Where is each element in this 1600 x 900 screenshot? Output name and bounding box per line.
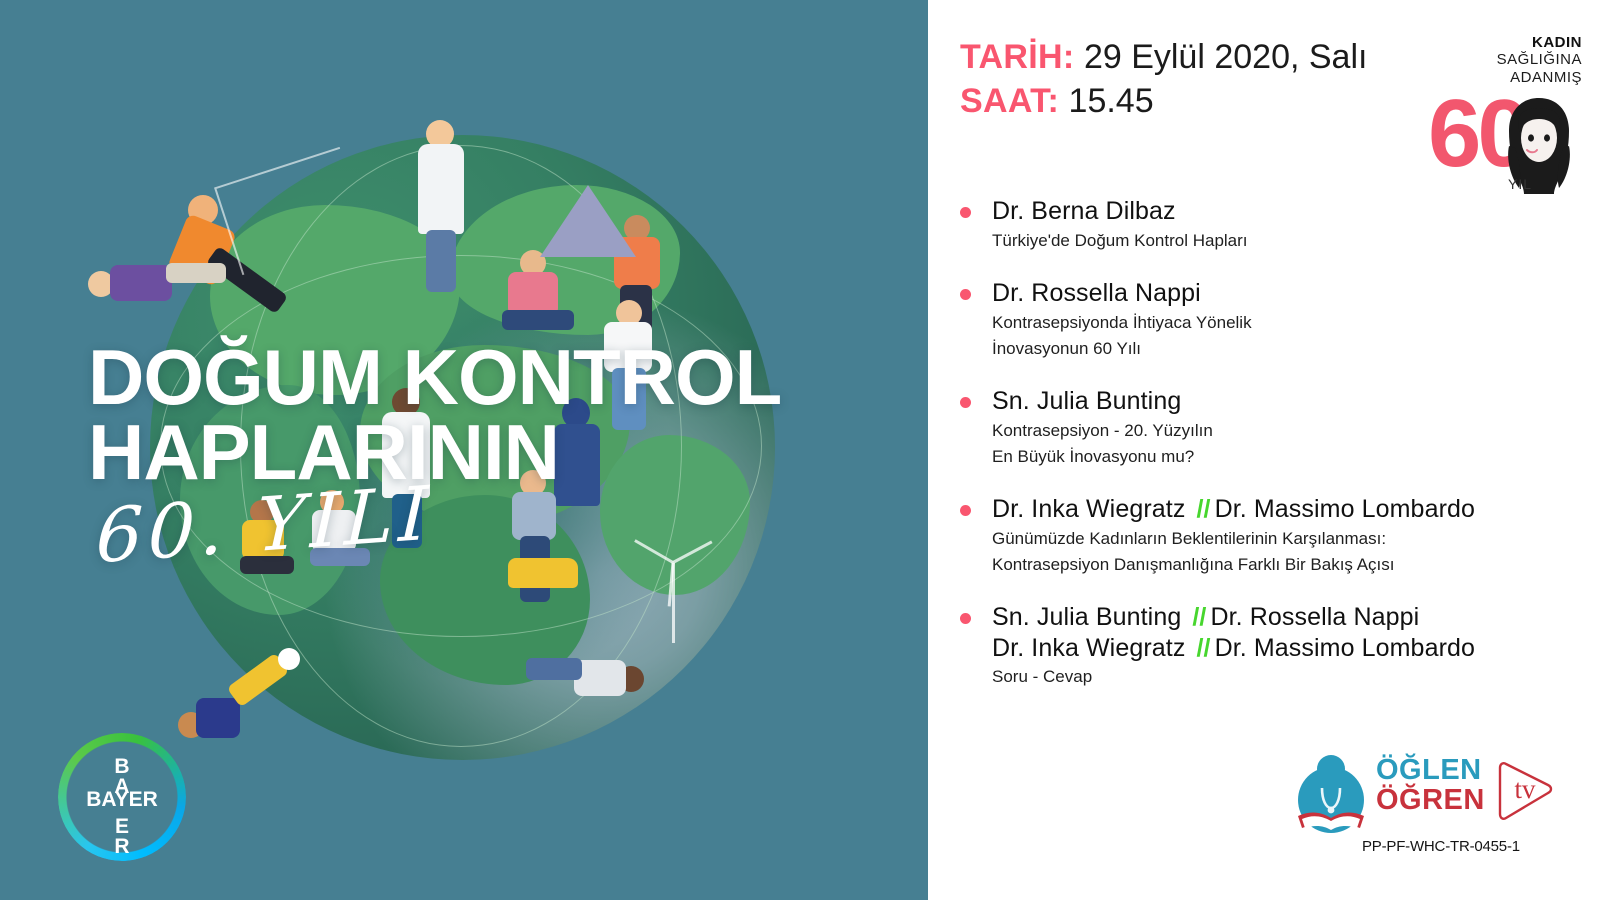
event-meta: TARİH: 29 Eylül 2020, Salı SAAT: 15.45	[960, 36, 1367, 123]
ogren-word: ÖĞREN	[1376, 786, 1485, 816]
anniversary-tagline: KADIN SAĞLIĞINA ADANMIŞ	[1497, 34, 1582, 86]
oglen-ogren-tv-logo: ÖĞLEN ÖĞREN tv	[1292, 748, 1542, 840]
event-time-row: SAAT: 15.45	[960, 80, 1367, 124]
speaker-topic-line: Türkiye'de Doğum Kontrol Hapları	[992, 230, 1590, 253]
speaker-name-line: Sn. Julia Bunting //Dr. Rossella Nappi	[992, 602, 1590, 633]
speaker-entry: Dr. Rossella Nappi Kontrasepsiyonda İhti…	[960, 278, 1590, 360]
anniversary-line-2: SAĞLIĞINA	[1497, 51, 1582, 68]
tv-play-badge: tv	[1492, 758, 1558, 824]
mountain-icon	[540, 185, 636, 257]
speaker-topic-line: İnovasyonun 60 Yılı	[992, 338, 1590, 361]
bayer-letter-r: R	[58, 837, 186, 857]
person-labcoat	[418, 144, 464, 234]
speaker-name-line: Dr. Inka Wiegratz //Dr. Massimo Lombardo	[992, 494, 1590, 525]
time-label: SAAT:	[960, 82, 1059, 120]
event-date-row: TARİH: 29 Eylül 2020, Salı	[960, 36, 1367, 80]
speaker-separator-icon: //	[1192, 634, 1214, 662]
speaker-name-line: Dr. Inka Wiegratz //Dr. Massimo Lombardo	[992, 633, 1590, 664]
bullet-icon	[960, 207, 971, 218]
bullet-icon	[960, 289, 971, 300]
speaker-name-line: Dr. Rossella Nappi	[992, 278, 1590, 309]
date-label: TARİH:	[960, 38, 1074, 76]
material-code: PP-PF-WHC-TR-0455-1	[1362, 838, 1520, 855]
webinar-poster: DOĞUM KONTROL HAPLARININ 60. YILI B A Y …	[0, 0, 1600, 900]
bayer-letter-e: E	[58, 817, 186, 837]
poster-title-block: DOĞUM KONTROL HAPLARININ 60. YILI	[0, 340, 928, 580]
anniversary-unit: YIL	[1508, 176, 1532, 192]
person-jersey	[196, 698, 240, 738]
speaker-topic-line: Kontrasepsiyon - 20. Yüzyılın	[992, 420, 1590, 443]
title-line-1: DOĞUM KONTROL	[88, 340, 928, 415]
speaker-topic-line: Kontrasepsiyon Danışmanlığına Farklı Bir…	[992, 554, 1590, 577]
person-legs	[426, 230, 456, 292]
speaker-name: Dr. Massimo Lombardo	[1215, 495, 1475, 523]
speaker-name: Dr. Berna Dilbaz	[992, 197, 1176, 225]
speaker-name: Sn. Julia Bunting	[992, 387, 1181, 415]
person-legs	[166, 263, 226, 283]
bayer-letter-b: B	[58, 757, 186, 777]
person-legs	[526, 658, 582, 680]
speaker-topic-line: Kontrasepsiyonda İhtiyaca Yönelik	[992, 312, 1590, 335]
tv-label: tv	[1502, 774, 1548, 805]
bayer-horizontal-word: BAYER	[58, 788, 186, 812]
anniversary-60-logo: KADIN SAĞLIĞINA ADANMIŞ 60 YIL	[1424, 28, 1584, 208]
speaker-entry: Sn. Julia Bunting //Dr. Rossella Nappi D…	[960, 602, 1590, 689]
speaker-name-line: Sn. Julia Bunting	[992, 386, 1590, 417]
speaker-list: Dr. Berna Dilbaz Türkiye'de Doğum Kontro…	[960, 196, 1590, 715]
bayer-cross-text: B A Y E R BAYER	[58, 733, 186, 861]
speaker-name: Sn. Julia Bunting	[992, 603, 1181, 631]
speaker-name: Dr. Inka Wiegratz	[992, 634, 1185, 662]
speaker-topic-line: Günümüzde Kadınların Beklentilerinin Kar…	[992, 528, 1590, 551]
speaker-separator-icon: //	[1188, 603, 1210, 631]
person-torso	[110, 265, 172, 301]
bullet-icon	[960, 397, 971, 408]
bayer-logo: B A Y E R BAYER	[58, 733, 186, 861]
person-legs	[502, 310, 574, 330]
speaker-name-line: Dr. Berna Dilbaz	[992, 196, 1590, 227]
speaker-entry: Dr. Berna Dilbaz Türkiye'de Doğum Kontro…	[960, 196, 1590, 252]
oglen-word: ÖĞLEN	[1376, 756, 1485, 786]
left-teal-panel: DOĞUM KONTROL HAPLARININ 60. YILI B A Y …	[0, 0, 928, 900]
speaker-name: Dr. Rossella Nappi	[1210, 603, 1419, 631]
soccer-ball-icon	[278, 648, 300, 670]
speaker-separator-icon: //	[1192, 495, 1214, 523]
speaker-name: Dr. Rossella Nappi	[992, 279, 1201, 307]
speaker-name: Dr. Inka Wiegratz	[992, 495, 1185, 523]
speaker-topic-line: En Büyük İnovasyonu mu?	[992, 446, 1590, 469]
bullet-icon	[960, 613, 971, 624]
date-value: 29 Eylül 2020, Salı	[1084, 38, 1368, 76]
speaker-entry: Sn. Julia Bunting Kontrasepsiyon - 20. Y…	[960, 386, 1590, 468]
time-value: 15.45	[1069, 82, 1154, 120]
anniversary-line-1: KADIN	[1497, 34, 1582, 51]
speaker-name: Dr. Massimo Lombardo	[1215, 634, 1475, 662]
speaker-topic-line: Soru - Cevap	[992, 666, 1590, 689]
speaker-entry: Dr. Inka Wiegratz //Dr. Massimo Lombardo…	[960, 494, 1590, 576]
oglen-ogren-wordmark: ÖĞLEN ÖĞREN	[1376, 756, 1485, 815]
bullet-icon	[960, 505, 971, 516]
doctor-avatar-icon	[1292, 752, 1370, 834]
